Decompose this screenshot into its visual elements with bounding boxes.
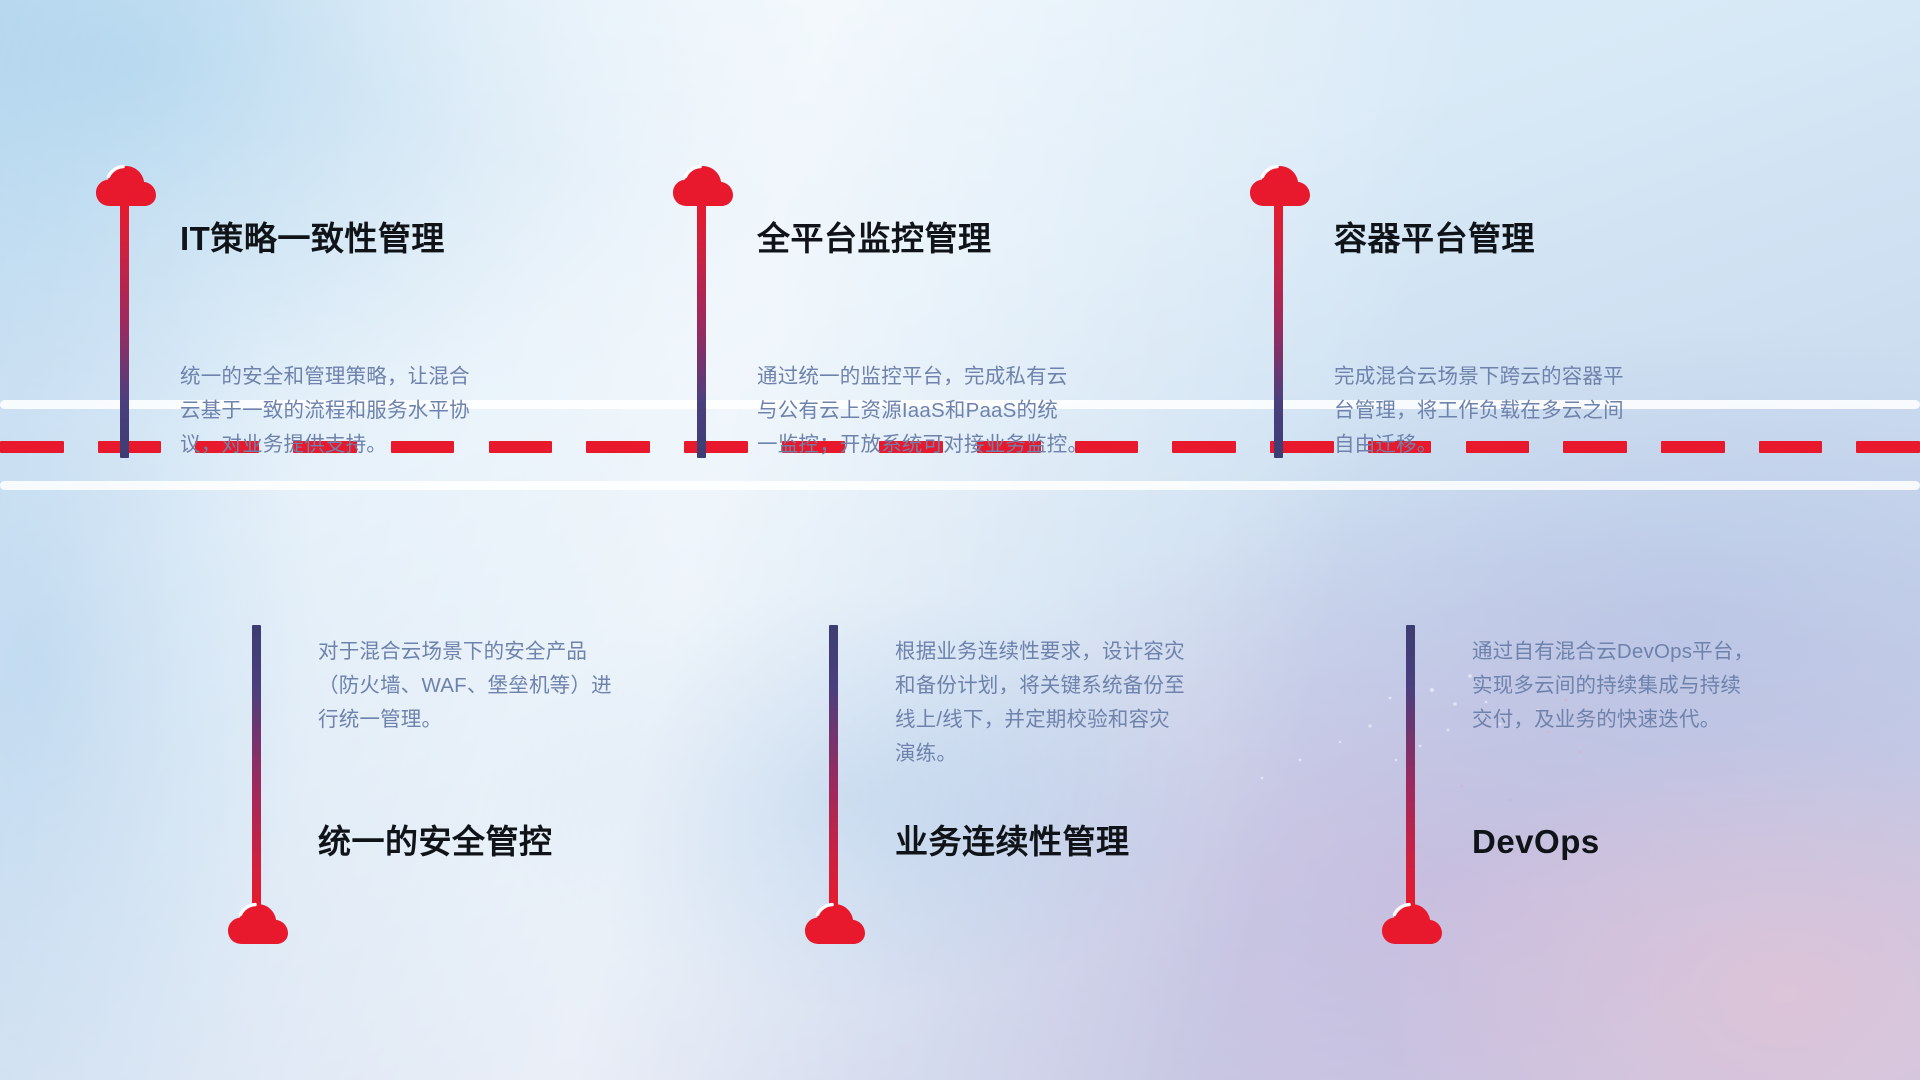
item-heading: 容器平台管理 [1334,222,1535,255]
item-heading: DevOps [1472,825,1600,858]
item-body-text: 统一的安全和管理策略，让混合 云基于一致的流程和服务水平协 议，对业务提供支持。 [180,360,610,462]
divider-dash [1856,441,1920,453]
item-heading: 全平台监控管理 [757,222,992,255]
item-body-text: 对于混合云场景下的安全产品 （防火墙、WAF、堡垒机等）进 行统一管理。 [318,635,748,737]
item-body-text: 通过自有混合云DevOps平台， 实现多云间的持续集成与持续 交付，及业务的快速… [1472,635,1902,737]
divider-dash [98,441,162,453]
divider-dash [0,441,64,453]
item-heading: 统一的安全管控 [318,825,553,858]
cloud-icon [804,898,866,946]
divider-dash [684,441,748,453]
timeline-stem [829,625,838,910]
cloud-icon [1381,898,1443,946]
timeline-stem [1406,625,1415,910]
item-body-text: 完成混合云场景下跨云的容器平 台管理，将工作负载在多云之间 自由迁移。 [1334,360,1774,462]
item-body-text: 通过统一的监控平台，完成私有云 与公有云上资源IaaS和PaaS的统 一监控；开… [757,360,1207,462]
divider-rule-bottom [0,481,1920,490]
cloud-icon [227,898,289,946]
item-heading: 业务连续性管理 [895,825,1130,858]
timeline-stem [252,625,261,910]
item-heading: IT策略一致性管理 [180,222,445,255]
timeline-stem [697,200,706,458]
timeline-stem [120,200,129,458]
item-body-text: 根据业务连续性要求，设计容灾 和备份计划，将关键系统备份至 线上/线下，并定期校… [895,635,1335,771]
timeline-stem [1274,200,1283,458]
